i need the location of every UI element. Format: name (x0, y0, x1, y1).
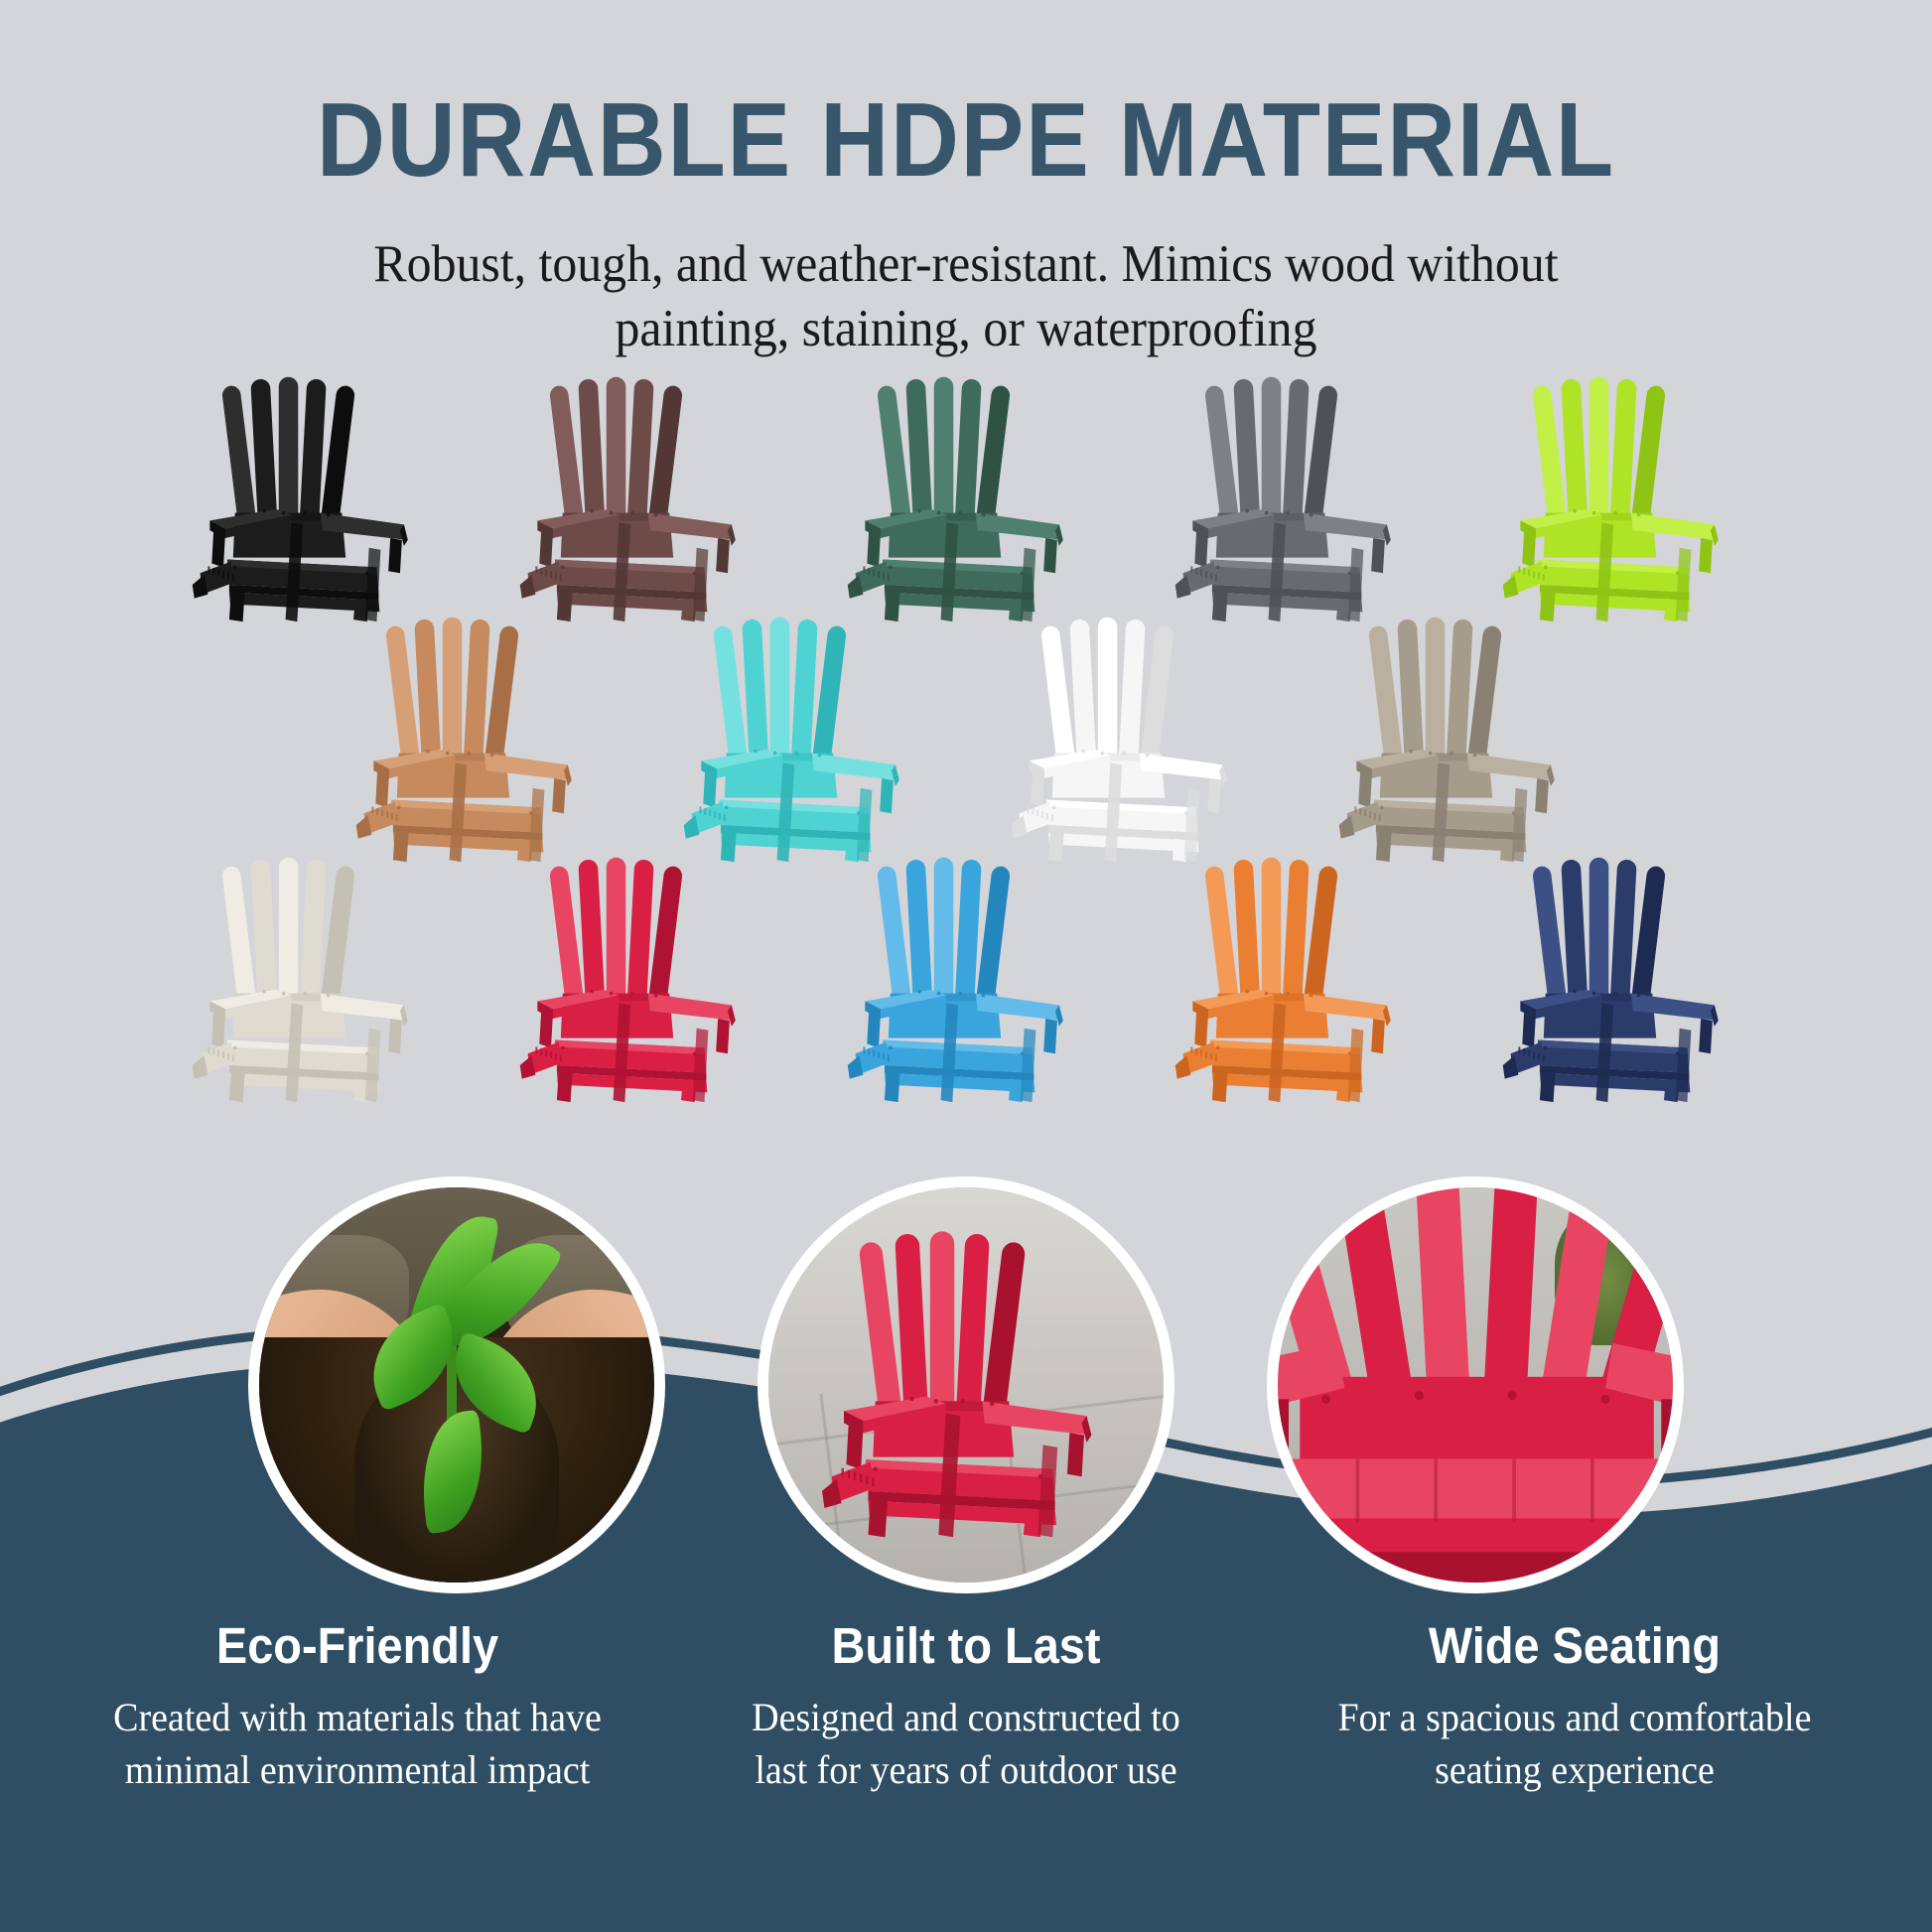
caption-body: For a spacious and comfortableseating ex… (1329, 1692, 1820, 1797)
chair-illustration (336, 608, 614, 866)
header: DURABLE HDPE MATERIAL Robust, tough, and… (0, 0, 1932, 360)
chair-swatch-dark-brown[interactable] (499, 367, 777, 625)
seat-closeup-chair (1267, 1176, 1684, 1593)
chair-illustration (1482, 848, 1760, 1106)
chair-illustration (172, 367, 450, 625)
chair-illustration (499, 367, 777, 625)
chair-swatch-red[interactable] (499, 848, 777, 1106)
chair-illustration (827, 367, 1105, 625)
page-title: DURABLE HDPE MATERIAL (96, 87, 1835, 193)
chair-swatch-dark-green[interactable] (827, 367, 1105, 625)
caption-body: Designed and constructed tolast for year… (721, 1692, 1211, 1797)
chair-illustration (827, 848, 1105, 1106)
chair-illustration (1318, 608, 1596, 866)
feature-image-eco-friendly (248, 1176, 665, 1593)
chair-illustration (499, 848, 777, 1106)
chair-swatch-black[interactable] (172, 367, 450, 625)
caption-built-to-last: Built to LastDesigned and constructed to… (708, 1618, 1224, 1797)
caption-body-line-1: For a spacious and comfortable (1329, 1692, 1820, 1744)
chair-swatch-navy-blue[interactable] (1482, 848, 1760, 1106)
caption-title: Wide Seating (1337, 1618, 1812, 1674)
chair-illustration (1482, 367, 1760, 625)
chair-swatch-turquoise[interactable] (663, 608, 941, 866)
chair-illustration (172, 848, 450, 1106)
subtitle-line-1: Robust, tough, and weather-resistant. Mi… (58, 232, 1873, 297)
caption-body-line-2: seating experience (1329, 1744, 1820, 1797)
seat-closeup-shape (1267, 1176, 1684, 1593)
chair-row (0, 848, 1932, 1106)
chair-swatch-taupe[interactable] (1318, 608, 1596, 866)
caption-body-line-2: last for years of outdoor use (721, 1744, 1211, 1797)
caption-body-line-1: Created with materials that have (112, 1692, 603, 1744)
feature-images (0, 1176, 1932, 1593)
caption-eco-friendly: Eco-FriendlyCreated with materials that … (99, 1618, 616, 1797)
caption-title: Built to Last (729, 1618, 1203, 1674)
patio-chair (800, 1176, 1140, 1583)
caption-body: Created with materials that haveminimal … (112, 1692, 603, 1797)
chair-illustration (991, 608, 1269, 866)
patio-photo (768, 1187, 1164, 1583)
caption-body-line-1: Designed and constructed to (721, 1692, 1211, 1744)
seedling-photo (259, 1187, 654, 1583)
caption-title: Eco-Friendly (120, 1618, 595, 1674)
chair-swatch-lime-green[interactable] (1482, 367, 1760, 625)
chair-illustration (663, 608, 941, 866)
chair-swatch-white[interactable] (991, 608, 1269, 866)
caption-body-line-2: minimal environmental impact (112, 1744, 603, 1797)
chair-row (0, 367, 1932, 625)
chair-swatch-cedar-tan[interactable] (336, 608, 614, 866)
page-subtitle: Robust, tough, and weather-resistant. Mi… (58, 232, 1873, 360)
chair-illustration (1155, 848, 1433, 1106)
caption-wide-seating: Wide SeatingFor a spacious and comfortab… (1316, 1618, 1833, 1797)
chair-swatch-ivory[interactable] (172, 848, 450, 1106)
patio-chair-shape (800, 1176, 1140, 1583)
chair-row (0, 608, 1932, 866)
seat-closeup-photo (1278, 1187, 1673, 1583)
feature-captions: Eco-FriendlyCreated with materials that … (0, 1618, 1932, 1797)
chair-swatch-gray[interactable] (1155, 367, 1433, 625)
subtitle-line-2: painting, staining, or waterproofing (58, 297, 1873, 361)
chair-swatch-blue[interactable] (827, 848, 1105, 1106)
chair-swatch-orange[interactable] (1155, 848, 1433, 1106)
chair-illustration (1155, 367, 1433, 625)
chair-color-grid (0, 367, 1932, 1106)
feature-image-wide-seating (1267, 1176, 1684, 1593)
feature-image-built-to-last (758, 1176, 1174, 1593)
